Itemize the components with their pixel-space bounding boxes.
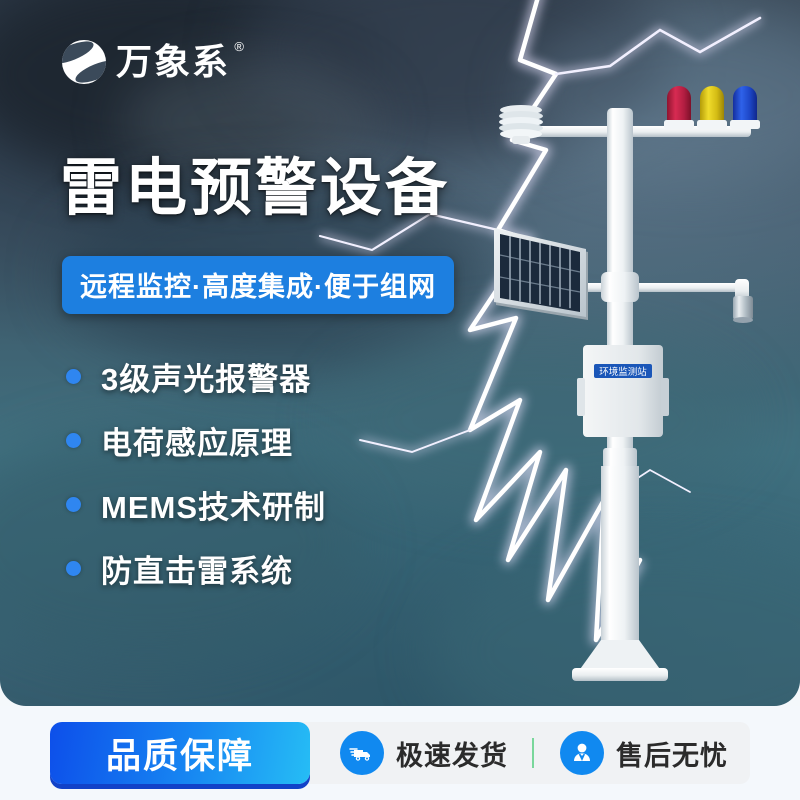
list-item: 防直击雷系统: [66, 536, 326, 600]
radiation-shield-sensor: [499, 105, 543, 144]
feature-label: MEMS技术研制: [101, 482, 326, 527]
quality-badge-label: 品质保障: [106, 728, 254, 779]
feature-list: 3级声光报警器 电荷感应原理 MEMS技术研制 防直击雷系统: [66, 344, 326, 600]
feature-label: 3级声光报警器: [101, 354, 311, 399]
list-item: 电荷感应原理: [66, 408, 326, 472]
bullet-dot-icon: [66, 433, 81, 448]
subtitle-badge: 远程监控·高度集成·便于组网: [62, 256, 454, 314]
service-after-sales: 售后无忧: [560, 731, 728, 775]
list-item: MEMS技术研制: [66, 472, 326, 536]
footer-content: 品质保障 极速发货: [50, 722, 750, 784]
product-poster: 环境监测站 万象系 ® 雷电预警设备 远程监控·高度集成·便于组网 3级声光报警…: [0, 0, 800, 800]
trademark-icon: ®: [234, 40, 246, 53]
alarm-beacon-array: [664, 86, 760, 129]
support-person-icon: [560, 731, 604, 775]
service-label: 售后无忧: [616, 734, 728, 773]
solar-panel: [494, 228, 588, 320]
page-title: 雷电预警设备: [60, 158, 450, 220]
yellow-beacon: [697, 86, 727, 129]
footer-bar: 品质保障 极速发货: [0, 706, 800, 800]
red-beacon: [664, 86, 694, 129]
feature-label: 电荷感应原理: [101, 418, 293, 463]
bullet-dot-icon: [66, 561, 81, 576]
quality-badge: 品质保障: [50, 722, 310, 784]
storm-sky-background: 环境监测站 万象系 ® 雷电预警设备 远程监控·高度集成·便于组网 3级声光报警…: [0, 0, 800, 706]
brand-logo: 万象系 ®: [62, 40, 230, 84]
service-fast-shipping: 极速发货: [340, 731, 508, 775]
brand-name: 万象系 ®: [116, 44, 230, 80]
environment-sensor-arm: [633, 279, 753, 323]
bullet-dot-icon: [66, 369, 81, 384]
swirl-globe-icon: [62, 40, 106, 84]
control-box-label: 环境监测站: [599, 366, 647, 378]
control-box: 环境监测站: [577, 345, 669, 437]
base-flange: [572, 640, 668, 681]
list-item: 3级声光报警器: [66, 344, 326, 408]
feature-label: 防直击雷系统: [101, 546, 293, 591]
service-divider: [532, 738, 534, 768]
delivery-truck-icon: [340, 731, 384, 775]
bullet-dot-icon: [66, 497, 81, 512]
service-label: 极速发货: [396, 734, 508, 773]
blue-beacon: [730, 86, 760, 129]
